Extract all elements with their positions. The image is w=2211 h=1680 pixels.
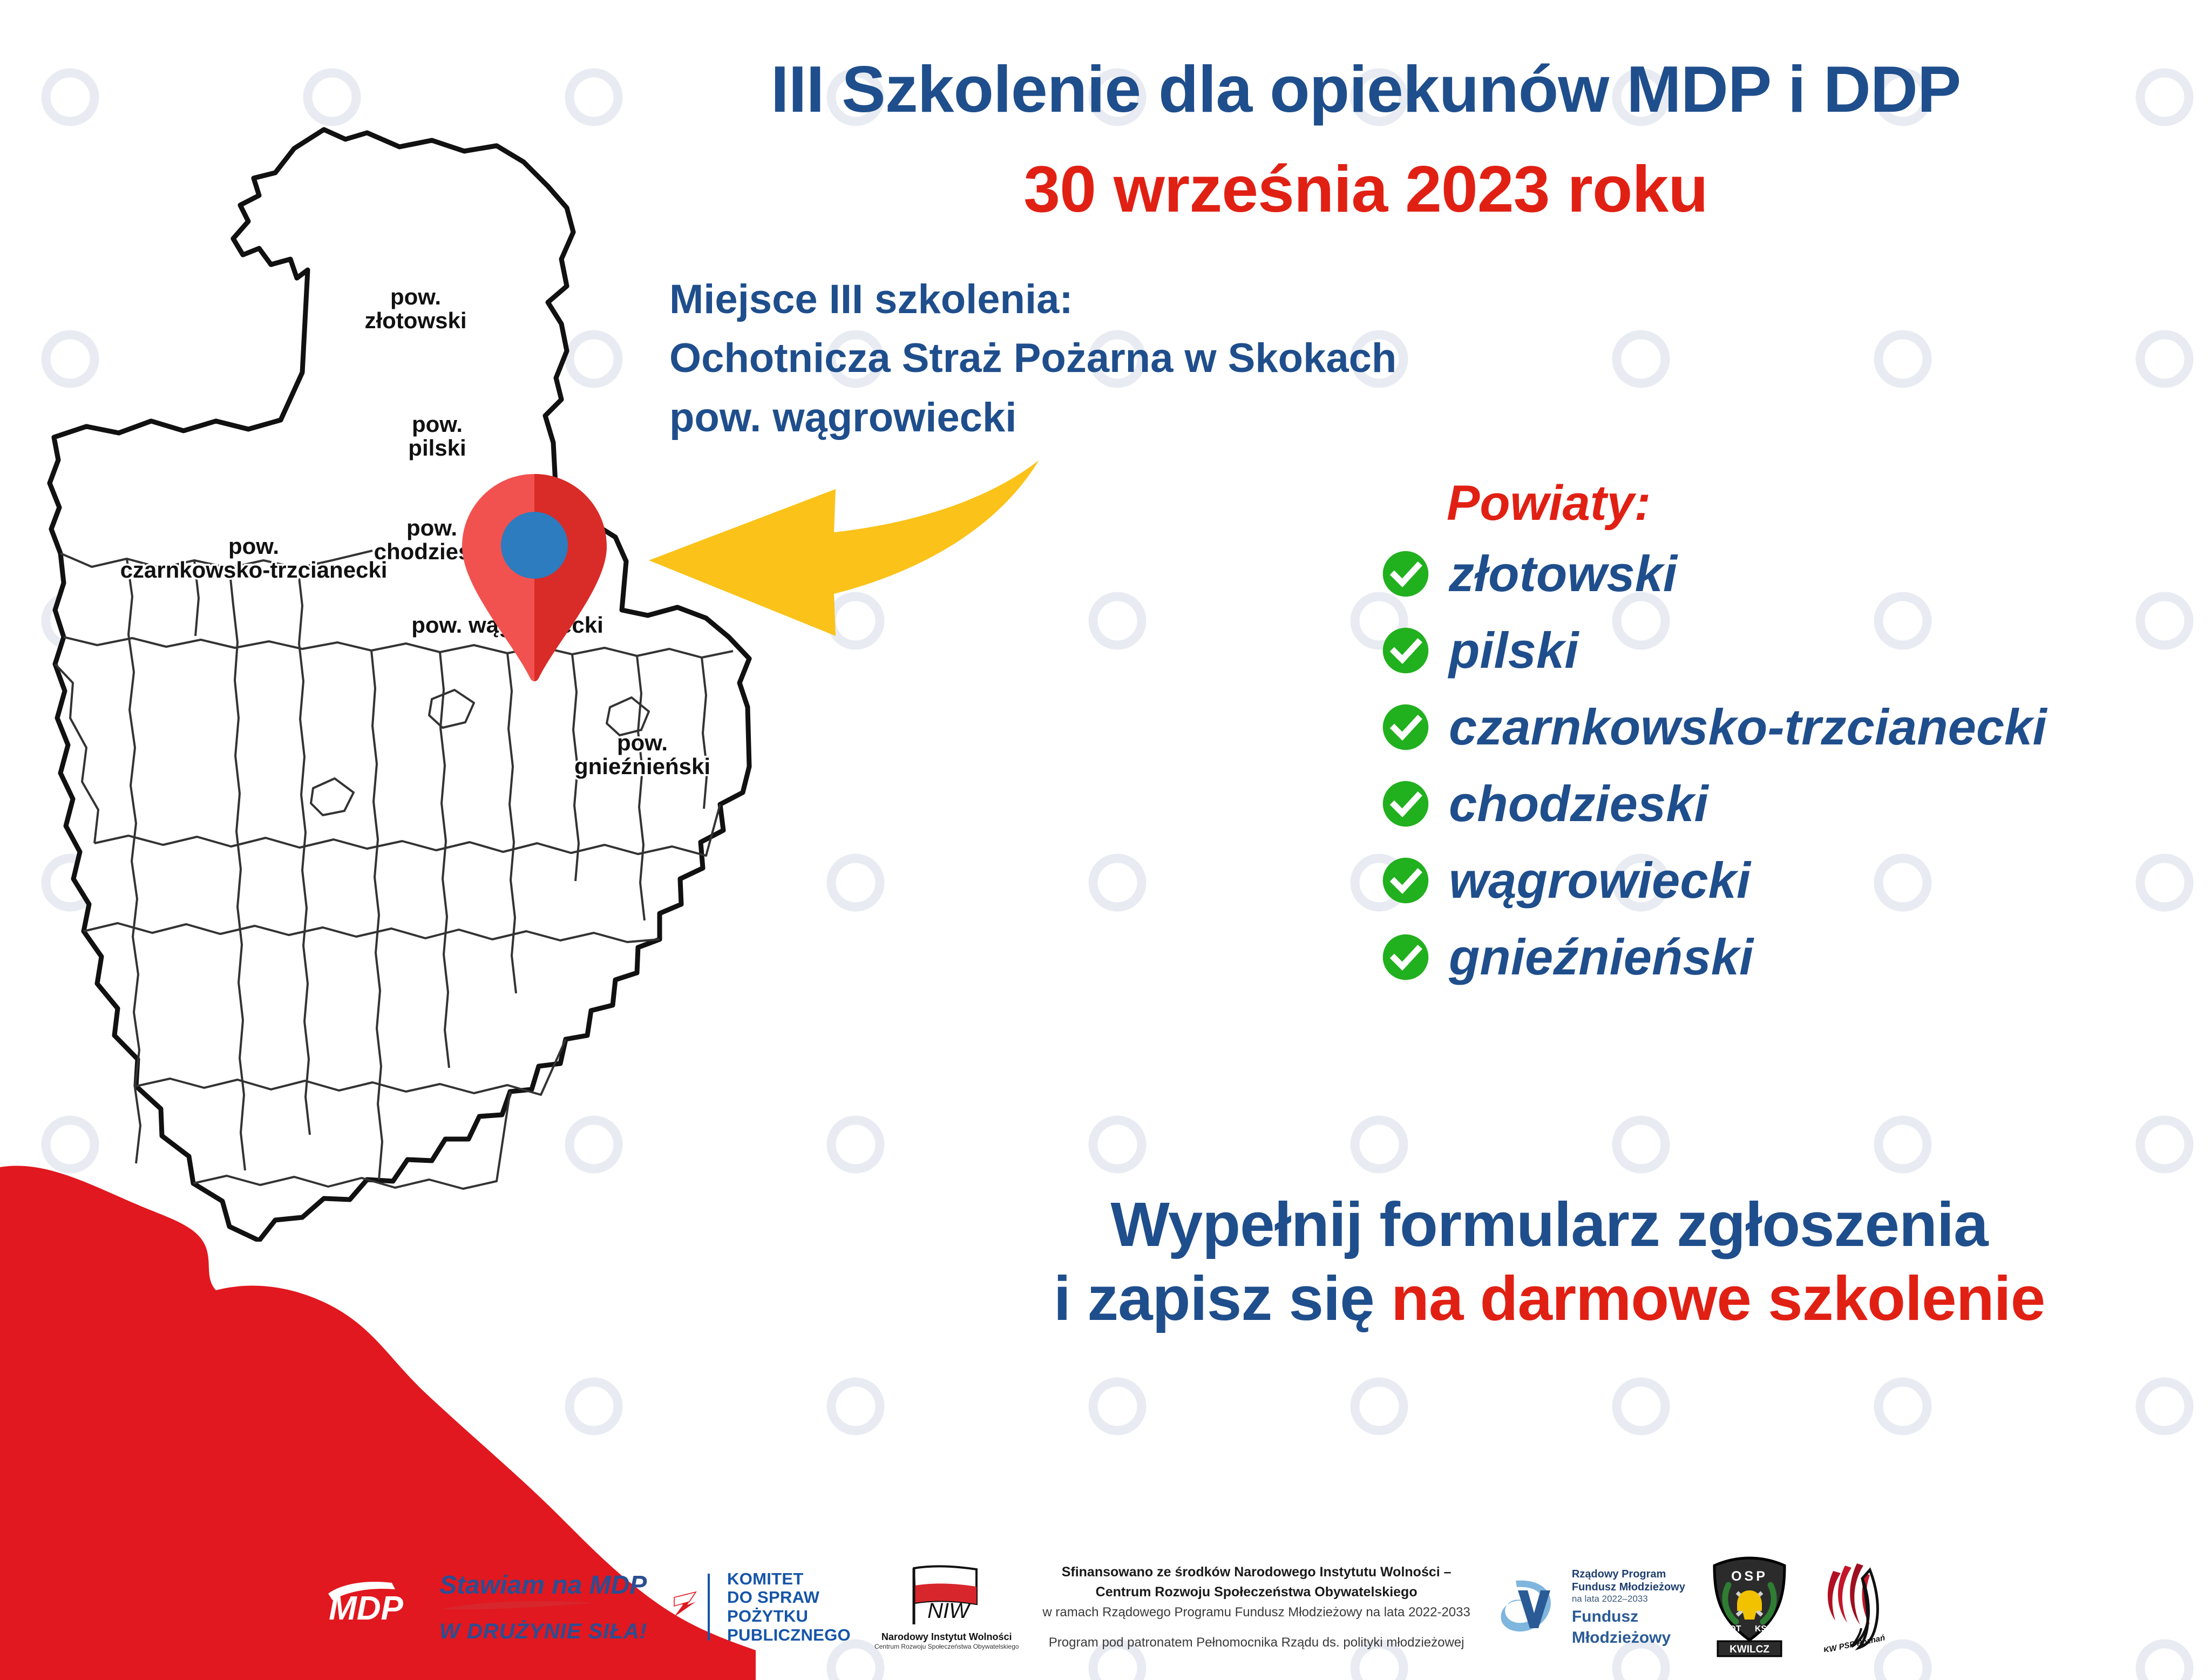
powiat-name: gnieźnieński xyxy=(1449,932,1753,983)
check-circle-icon xyxy=(1382,703,1429,751)
red-brush-underline-icon xyxy=(439,1598,596,1613)
fundusz-v-icon xyxy=(1494,1572,1564,1642)
logo-mdp: MDP Stawiam na MDP W DRUŻYNIE SIŁA! xyxy=(316,1556,647,1658)
page-title: III Szkolenie dla opiekunów MDP i DDP xyxy=(637,51,2094,127)
list-item: pilski xyxy=(1382,616,2047,685)
list-item: czarnkowsko-trzcianecki xyxy=(1382,693,2047,762)
cta-line-1: Wypełnij formularz zgłoszenia xyxy=(907,1188,2192,1262)
logo-osp-kwilcz: OSP JOT KSRG KWILCZ xyxy=(1709,1555,1790,1660)
financing-line-2: Centrum Rozwoju Społeczeństwa Obywatelsk… xyxy=(1042,1582,1470,1603)
mdp-truck-icon: MDP xyxy=(316,1556,430,1658)
curved-arrow-left-icon xyxy=(621,432,1074,648)
map-pin-icon xyxy=(448,470,621,686)
logo-fundusz-mlodziezowy: Rządowy Program Fundusz Młodzieżowy na l… xyxy=(1494,1568,1685,1647)
venue-line-1: Miejsce III szkolenia: xyxy=(669,270,1396,329)
mdp-tagline-line-1: Stawiam na MDP xyxy=(439,1573,647,1598)
check-circle-icon xyxy=(1382,550,1429,598)
osp-shield-icon: OSP JOT KSRG KWILCZ xyxy=(1709,1555,1790,1657)
financing-line-3: w ramach Rządowego Programu Fundusz Młod… xyxy=(1042,1603,1470,1622)
mdp-tagline: Stawiam na MDP W DRUŻYNIE SIŁA! xyxy=(439,1573,647,1642)
financing-statement: Sfinansowano ze środków Narodowego Insty… xyxy=(1042,1562,1470,1652)
divider xyxy=(708,1574,710,1641)
komitet-text: KOMITET DO SPRAW POŻYTKU PUBLICZNEGO xyxy=(727,1570,851,1645)
niw-flag-icon: NIW xyxy=(896,1564,998,1629)
komitet-line-2: DO SPRAW xyxy=(727,1588,851,1607)
cta-line-2: i zapisz się na darmowe szkolenie xyxy=(907,1262,2192,1336)
osp-top-text: OSP xyxy=(1731,1569,1768,1584)
powiaty-list: Powiaty: złotowski pilski czarnkowsko-tr… xyxy=(1382,475,2047,999)
cta-line-2-red: na darmowe szkolenie xyxy=(1391,1263,2045,1333)
fundusz-big-2: Młodzieżowy xyxy=(1572,1629,1685,1647)
svg-text:KSRG: KSRG xyxy=(1755,1624,1780,1634)
komitet-line-4: PUBLICZNEGO xyxy=(727,1626,851,1645)
fundusz-small-1: Rządowy Program xyxy=(1572,1568,1685,1581)
powiat-name: pilski xyxy=(1449,625,1578,676)
list-item: wągrowiecki xyxy=(1382,846,2047,915)
komitet-line-3: POŻYTKU xyxy=(727,1607,851,1626)
financing-line-4: Program pod patronatem Pełnomocnika Rząd… xyxy=(1042,1633,1470,1652)
call-to-action: Wypełnij formularz zgłoszenia i zapisz s… xyxy=(907,1188,2192,1336)
svg-text:KWILCZ: KWILCZ xyxy=(1730,1644,1769,1655)
fundusz-small-3: na lata 2022–2033 xyxy=(1572,1594,1685,1605)
svg-text:MDP: MDP xyxy=(329,1590,403,1627)
list-item: złotowski xyxy=(1382,539,2047,608)
svg-text:KW PSP Poznań: KW PSP Poznań xyxy=(1822,1633,1886,1652)
logo-kw-psp-poznan: KW PSP Poznań xyxy=(1814,1560,1895,1655)
fundusz-big-1: Fundusz xyxy=(1572,1608,1685,1626)
psp-horse-flame-icon: KW PSP Poznań xyxy=(1814,1560,1895,1652)
list-item: gnieźnieński xyxy=(1382,923,2047,992)
powiaty-heading: Powiaty: xyxy=(1447,475,2047,532)
polish-flag-icon xyxy=(671,1575,699,1640)
fundusz-text: Rządowy Program Fundusz Młodzieżowy na l… xyxy=(1572,1568,1685,1647)
event-date: 30 września 2023 roku xyxy=(637,151,2094,227)
check-circle-icon xyxy=(1382,857,1429,904)
spacer xyxy=(1042,1622,1470,1633)
fundusz-small-2: Fundusz Młodzieżowy xyxy=(1572,1581,1685,1594)
footer-logo-bar: MDP Stawiam na MDP W DRUŻYNIE SIŁA! KOMI… xyxy=(0,1534,2211,1680)
svg-text:JOT: JOT xyxy=(1724,1624,1741,1634)
venue-block: Miejsce III szkolenia: Ochotnicza Straż … xyxy=(669,270,1396,447)
venue-line-3: pow. wągrowiecki xyxy=(669,388,1396,447)
voivodeship-outline xyxy=(50,130,749,1241)
powiat-name: wągrowiecki xyxy=(1449,855,1751,906)
svg-text:NIW: NIW xyxy=(927,1599,971,1623)
powiat-name: złotowski xyxy=(1449,548,1677,599)
check-circle-icon xyxy=(1382,627,1429,674)
venue-line-2: Ochotnicza Straż Pożarna w Skokach xyxy=(669,329,1396,388)
powiat-name: czarnkowsko-trzcianecki xyxy=(1449,702,2047,753)
cta-line-2-blue: i zapisz się xyxy=(1054,1263,1391,1333)
financing-line-1: Sfinansowano ze środków Narodowego Insty… xyxy=(1042,1562,1470,1583)
niw-caption-1: Narodowy Instytut Wolności xyxy=(874,1631,1019,1643)
check-circle-icon xyxy=(1382,933,1429,981)
powiat-name: chodzieski xyxy=(1449,778,1708,829)
logo-niw: NIW Narodowy Instytut Wolności Centrum R… xyxy=(874,1564,1019,1651)
mdp-tagline-line-2: W DRUŻYNIE SIŁA! xyxy=(439,1621,647,1642)
logo-komitet-pozytku-publicznego: KOMITET DO SPRAW POŻYTKU PUBLICZNEGO xyxy=(671,1570,851,1645)
list-item: chodzieski xyxy=(1382,769,2047,838)
check-circle-icon xyxy=(1382,780,1429,828)
niw-caption-2: Centrum Rozwoju Społeczeństwa Obywatelsk… xyxy=(874,1643,1019,1650)
komitet-line-1: KOMITET xyxy=(727,1570,851,1589)
